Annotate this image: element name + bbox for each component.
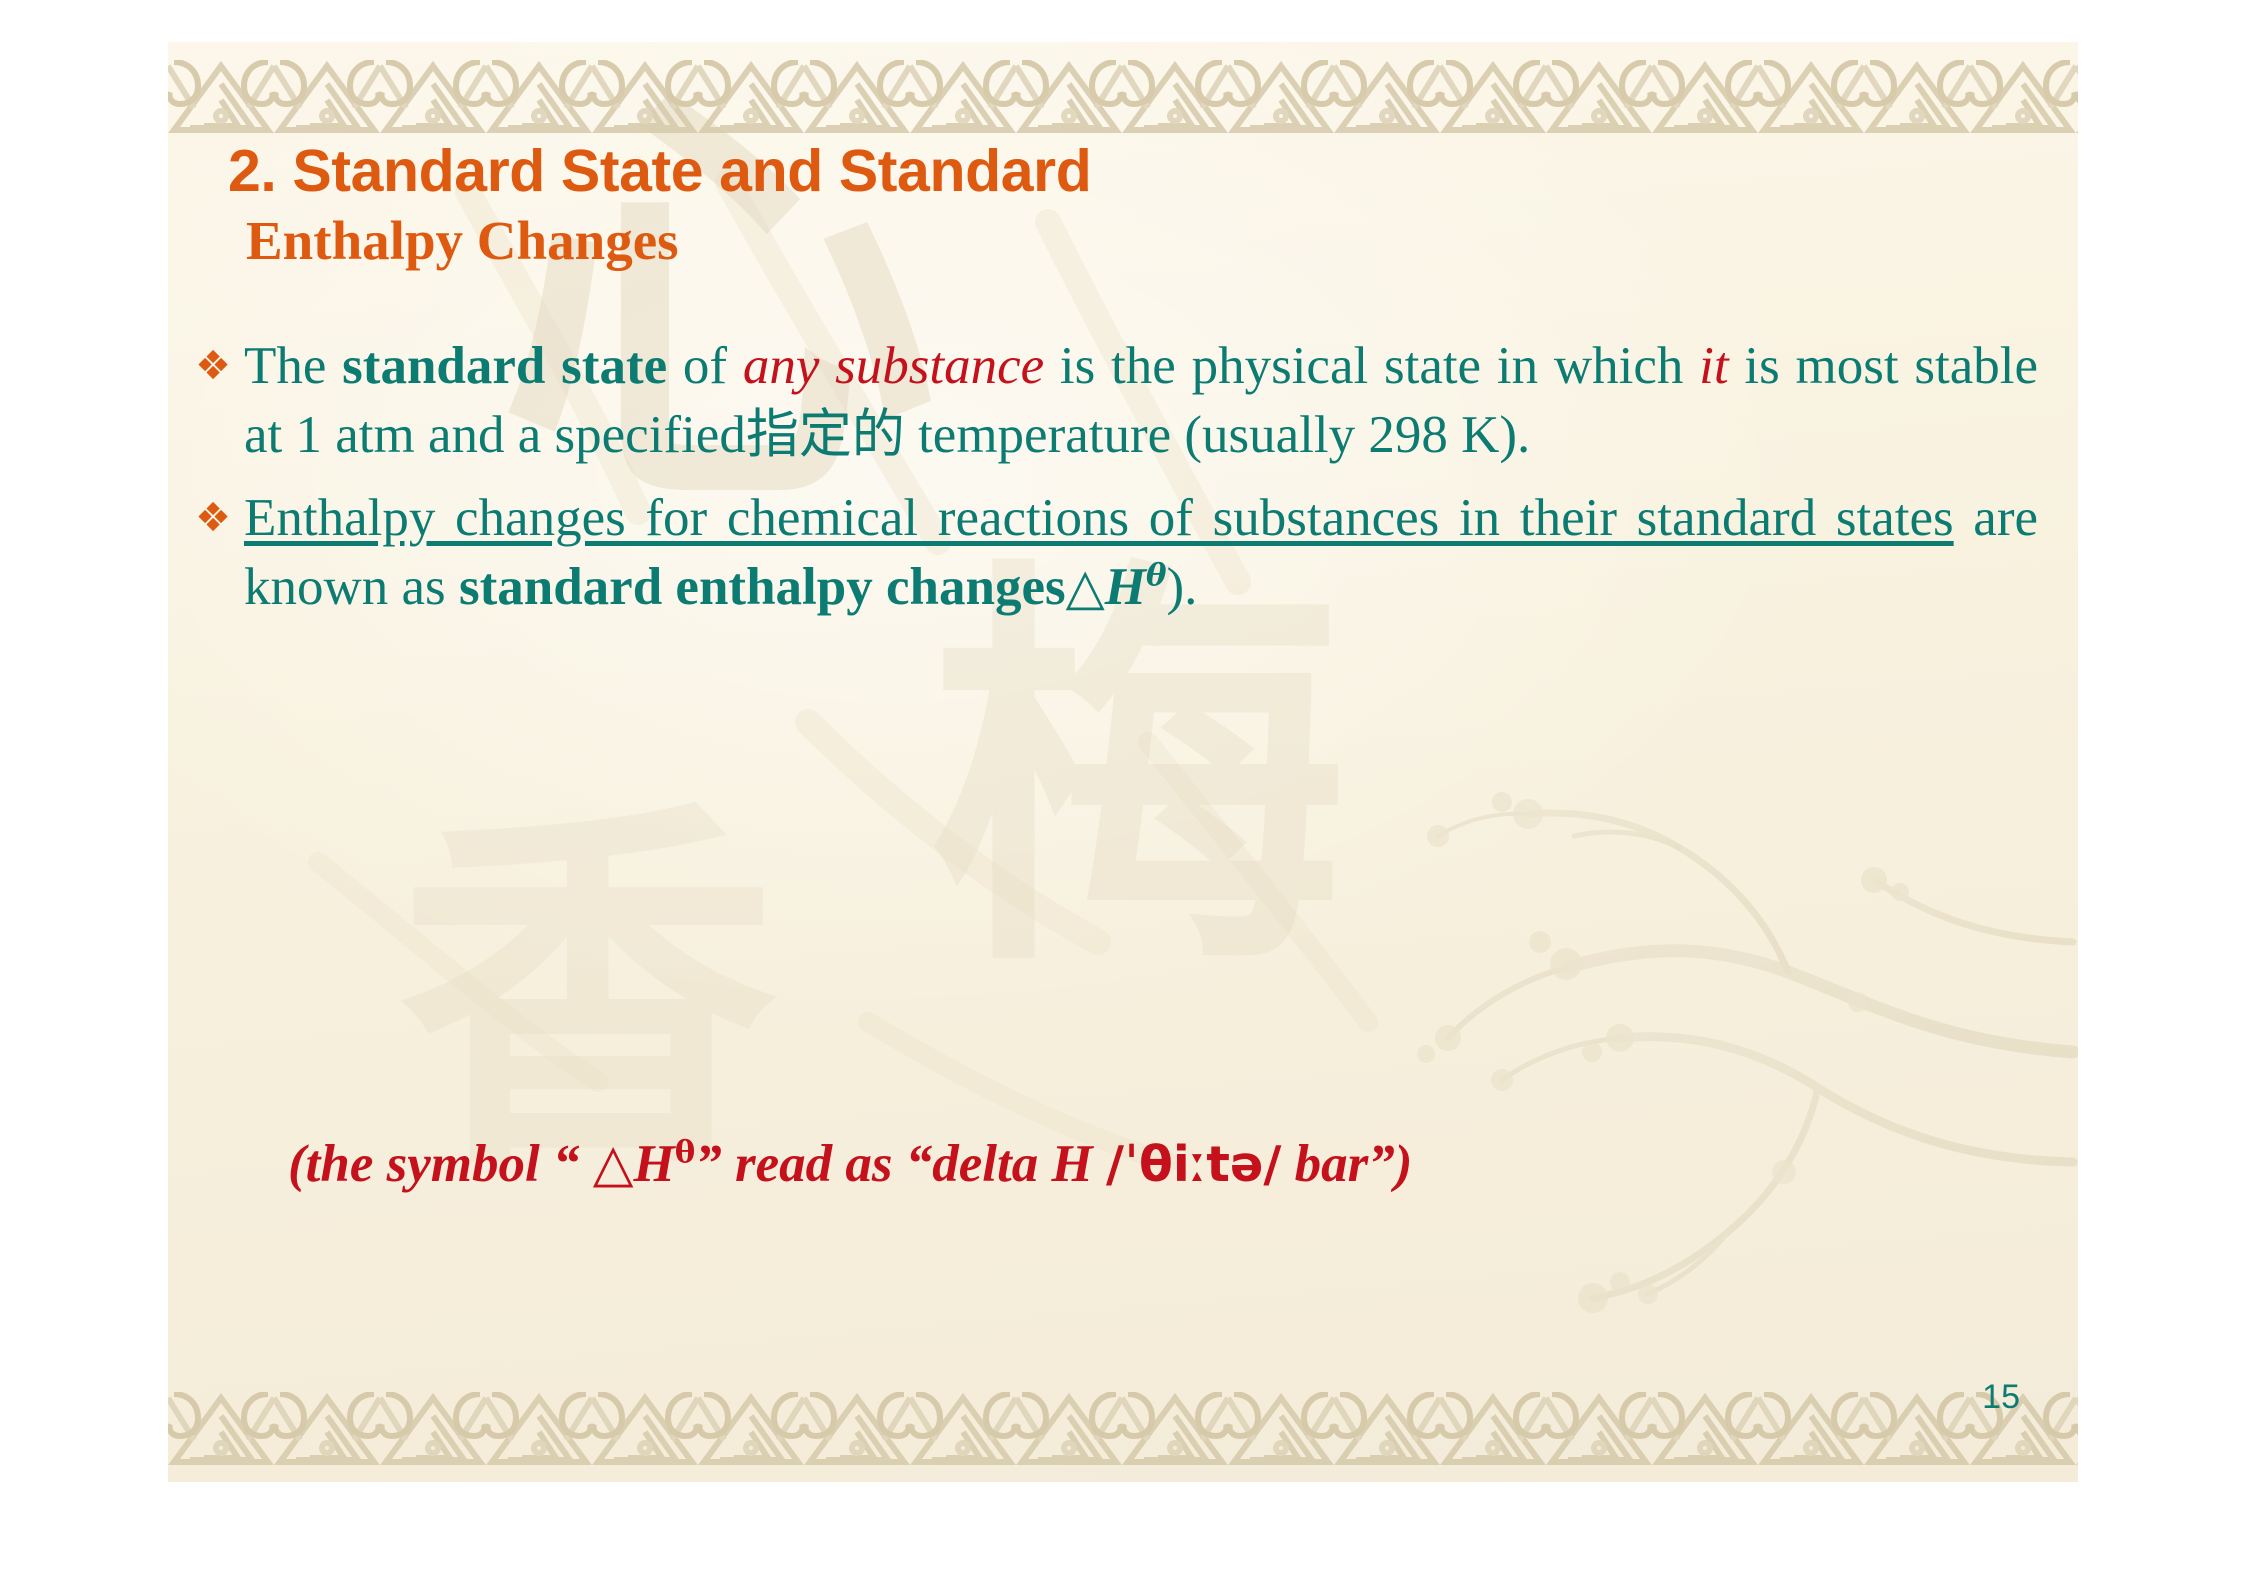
slide-body: ❖ The standard state of any substance is… [182,332,2038,636]
bullet-2-seg-2: standard enthalpy changes [459,558,1066,616]
calligraphy-ghost-3: 香 [398,802,778,1182]
bullet-1-seg-1: standard state [342,337,667,395]
slide-title: 2. Standard State and Standard Enthalpy … [228,140,1968,271]
footnote-theta-superscript: θ [675,1134,696,1170]
decorative-border-bottom [168,1392,2078,1466]
bullet-1-seg-0: The [244,337,342,395]
footnote-delta-symbol: △ [593,1133,634,1194]
decorative-border-top [168,60,2078,134]
bullet-1-text: The standard state of any substance is t… [244,332,2038,470]
delta-symbol: △ [1066,557,1105,616]
bullet-item-2: ❖ Enthalpy changes for chemical reaction… [182,484,2038,622]
footnote-ipa: /ˈθiːtə/ [1106,1135,1281,1193]
bullet-item-1: ❖ The standard state of any substance is… [182,332,2038,470]
title-line-1: 2. Standard State and Standard [228,140,1968,204]
footnote-part-3: bar”) [1281,1135,1412,1193]
bullet-2-seg-0: Enthalpy changes for chemical reactions … [244,489,1954,547]
page-number: 15 [1982,1380,2020,1414]
theta-superscript: θ [1146,557,1167,593]
bullet-1-seg-5: it [1699,337,1728,395]
diamond-bullet-icon: ❖ [182,484,244,544]
bullet-1-seg-3: any substance [743,337,1044,395]
bullet-1-seg-4: is the physical state in which [1044,337,1699,395]
bullet-2-text: Enthalpy changes for chemical reactions … [244,484,2038,622]
slide-canvas: 心 梅 香 [168,42,2078,1482]
footnote-h-symbol: H [634,1135,675,1193]
footnote-part-2: ” read as “delta H [695,1135,1106,1193]
footnote-pronunciation: (the symbol “ △Hθ” read as “delta H /ˈθi… [288,1132,1988,1197]
h-symbol: H [1105,558,1146,616]
title-line-2: Enthalpy Changes [228,210,1968,272]
footnote-part-1: (the symbol “ [288,1135,593,1193]
diamond-bullet-icon: ❖ [182,332,244,392]
bullet-2-seg-5: ). [1167,558,1198,616]
bullet-1-seg-2: of [667,337,743,395]
